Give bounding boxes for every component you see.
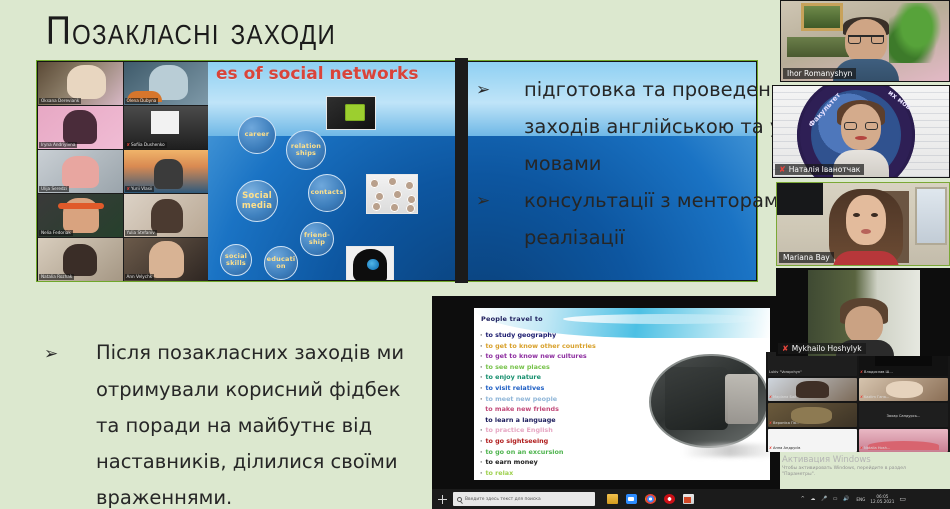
participant-name-label: Ihor Romanyshyn (783, 68, 856, 79)
powerpoint-icon[interactable] (683, 494, 694, 504)
bullet-item: наставників, ділилися своїми (40, 445, 440, 479)
glasses-icon (844, 122, 878, 130)
arrow-bullet-icon: ➢ (472, 183, 524, 218)
tv-decor (777, 183, 823, 215)
bullet-item: ➢ Після позакласних заходів ми (40, 336, 440, 371)
mic-muted-icon: ✘ (860, 370, 863, 374)
taskbar-clock[interactable]: 06:05 12.05.2021 (870, 494, 894, 505)
torso-shape (833, 251, 899, 266)
travel-list-item: to make new friends (480, 404, 766, 415)
face-shape (845, 306, 883, 344)
bullet-item: та поради на майбутнє від (40, 409, 440, 443)
glasses-icon (848, 35, 884, 44)
eye-right (871, 213, 878, 217)
clock-time: 06:05 (876, 494, 888, 499)
zoom-tile-name: Ulija Seredzi (39, 186, 69, 192)
zoom-tile: Ann Velychk (124, 238, 209, 281)
windows-taskbar[interactable]: Введите здесь текст для поиска ^ ☁ 🎤 ▭ 🔊… (432, 489, 950, 509)
bullet-item: отримували корисний фідбек (40, 373, 440, 407)
participant-thumb: ✘Natalia Hosh... (859, 429, 948, 453)
zoom-tile-name: Olena Dubyna (125, 98, 159, 104)
participant-name-label: ✘ Наталія Іванотчак (775, 164, 864, 175)
zoom-tile: Natalia Rozhak (38, 238, 123, 281)
mic-muted-icon: ✘ (127, 142, 131, 147)
mic-muted-icon: ✘ (127, 186, 131, 191)
arrow-bullet-icon (472, 220, 524, 255)
bullet-list-right: ➢ підготовка та проведення заходів англі… (472, 72, 802, 257)
participant-thumb: ✘Анна Андрусів (768, 429, 857, 453)
zoom-tile-name: Nelia Fedoriak (39, 230, 73, 236)
participant-name: Lukiv "Voropchyn" (769, 370, 856, 375)
social-network-people-image (366, 174, 418, 214)
arrow-bullet-icon (40, 409, 96, 443)
mouth-shape (861, 229, 871, 234)
zoom-tile-name: Natalia Rozhak (39, 274, 74, 280)
zoom-tile: Iryna Andriyivna (38, 106, 123, 149)
arrow-bullet-icon (472, 146, 524, 181)
bullet-text: враженнями. (96, 481, 232, 509)
video-panel-nataliia-ivanotchak[interactable]: Факультетих мов ✘ Наталія Іванотчак (772, 85, 950, 178)
participant-thumb: ✘Вероніка Па... (768, 403, 857, 427)
taskbar-search-input[interactable]: Введите здесь текст для поиска (453, 492, 595, 506)
page-title: Позакласні заходи (46, 8, 336, 54)
video-panel-mariana-bay[interactable]: Mariana Bay (776, 182, 950, 266)
participant-name: ✘Вероніка Па... (769, 421, 856, 426)
opera-icon[interactable] (664, 494, 675, 504)
bullet-text: наставників, ділилися своїми (96, 445, 398, 479)
screenshot-edge-strip (455, 58, 468, 283)
clock-date: 12.05.2021 (870, 499, 894, 504)
mic-muted-icon: ✘ (860, 395, 863, 399)
travel-list-item: ·to earn money (480, 457, 766, 468)
participant-thumb: ✘Kazlim Гана... (859, 378, 948, 402)
bullet-text: Після позакласних заходів ми (96, 336, 404, 371)
bullet-item: ➢ підготовка та проведення (472, 72, 802, 107)
watermark-subtitle: Чтобы активировать Windows, перейдите в … (782, 466, 932, 478)
bubble-social-media: Social media (236, 180, 278, 222)
zoom-tile: Olena Dubyna (124, 62, 209, 105)
travel-list-item: ·to go sightseeing (480, 436, 766, 447)
bullet-item: ➢ консультації з менторам (472, 183, 802, 218)
video-panel-ihor-romanyshyn[interactable]: Ihor Romanyshyn (780, 0, 950, 82)
start-button-icon[interactable] (438, 495, 447, 504)
bullet-text: реалізації (524, 220, 625, 255)
keyboard-image (326, 96, 376, 130)
travel-list-item: ·to see new places (480, 362, 766, 373)
lips-shape (855, 136, 867, 140)
arrow-bullet-icon (40, 481, 96, 509)
video-panel-mykhailo-hoshylyk[interactable]: ✘ Mykhailo Hoshylyk (776, 268, 950, 356)
system-tray[interactable]: ^ ☁ 🎤 ▭ 🔊 ENG 06:05 12.05.2021 ▭ (801, 489, 906, 509)
travel-list-item: ·to go on a tour around different cities… (480, 478, 766, 480)
travel-list-item: ·to meet new people (480, 394, 766, 405)
participant-name: ✘Владислав Ш... (860, 370, 947, 375)
bubble-social-skills: social skills (220, 244, 252, 276)
arrow-bullet-icon (472, 109, 524, 144)
mic-muted-icon: ✘ (860, 446, 863, 450)
bullet-item: заходів англійською та у (472, 109, 802, 144)
travel-reasons-list: ·to study geography ·to get to know othe… (480, 330, 766, 480)
participant-name-label: ✘ Mykhailo Hoshylyk (778, 343, 866, 354)
mic-muted-icon: ✘ (779, 164, 786, 175)
bubble-career: career (238, 116, 276, 154)
zoom-tile-name: Ann Velychk (125, 274, 155, 280)
participants-thumbnail-strip: Lukiv "Voropchyn" ✘Владислав Ш... ✘Маріа… (766, 352, 950, 452)
zoom-participant-grid: Oksana Dereviank Olena Dubyna Iryna Andr… (38, 62, 208, 281)
window-decor (915, 187, 947, 245)
watermark-title: Активация Windows (782, 455, 932, 466)
bullet-text: консультації з менторам (524, 183, 779, 218)
travel-slide-body: People travel to ·to study geography ·to… (474, 308, 770, 480)
travel-list-item: ·to practice English (480, 425, 766, 436)
participant-name: ✘Natalia Hosh... (860, 446, 947, 451)
head-silhouette-image (346, 246, 394, 280)
zoom-tile: Nelia Fedoriak (38, 194, 123, 237)
bullet-item: мовами (472, 146, 802, 181)
participant-name: ✘Анна Андрусів (769, 446, 856, 451)
tray-icons[interactable]: ^ ☁ 🎤 ▭ 🔊 (801, 496, 852, 502)
travel-list-item: to learn a language (480, 415, 766, 426)
bullet-text: підготовка та проведення (524, 72, 795, 107)
bubble-contacts: contacts (308, 174, 346, 212)
participant-name: Захар Сандурсь... (859, 403, 948, 419)
bullet-text: отримували корисний фідбек (96, 373, 401, 407)
arrow-bullet-icon (40, 373, 96, 407)
participants-grid: Lukiv "Voropchyn" ✘Владислав Ш... ✘Маріа… (768, 352, 948, 452)
participant-name-label: Mariana Bay (779, 252, 834, 263)
bubble-relationships: relation ships (286, 130, 326, 170)
bubble-education: educati on (264, 246, 298, 280)
travel-list-item: ·to get to know other countries (480, 341, 766, 352)
arrow-bullet-icon: ➢ (472, 72, 524, 107)
face-shape (846, 195, 886, 245)
travel-list-item: ·to relax (480, 468, 766, 479)
travel-list-item: ·to visit relatives (480, 383, 766, 394)
travel-list-item: ·to get to know new cultures (480, 351, 766, 362)
avatar (829, 189, 903, 266)
taskbar-pinned-apps (607, 494, 694, 504)
zoom-tile: Yulia Stefaniv (124, 194, 209, 237)
travel-list-item: ·to enjoy nature (480, 372, 766, 383)
zoom-tile: Ulija Seredzi (38, 150, 123, 193)
zoom-tile: ✘Yurii Vlasii (124, 150, 209, 193)
participant-name: ✘Kazlim Гана... (860, 395, 947, 400)
zoom-tile-name: Yulia Stefaniv (125, 230, 157, 236)
search-icon (457, 497, 462, 502)
arrow-bullet-icon (40, 445, 96, 479)
tray-language[interactable]: ENG (856, 497, 865, 502)
screenshot-travel-slide: People travel to ·to study geography ·to… (432, 296, 780, 509)
eye-left (853, 213, 860, 217)
participant-thumb: Захар Сандурсь... (859, 403, 948, 427)
mic-muted-icon: ✘ (769, 446, 772, 450)
zoom-tile-name: ✘Yurii Vlasii (125, 186, 155, 192)
zoom-app-icon[interactable] (626, 494, 637, 504)
bubble-friendship: friend- ship (300, 222, 334, 256)
search-placeholder: Введите здесь текст для поиска (465, 497, 541, 502)
zoom-tile: Oksana Dereviank (38, 62, 123, 105)
travel-slide-heading: People travel to (481, 315, 543, 323)
chrome-icon[interactable] (645, 494, 656, 504)
bullet-item: реалізації (472, 220, 802, 255)
notifications-icon[interactable]: ▭ (899, 495, 906, 503)
bullet-item: враженнями. (40, 481, 440, 509)
bullet-text: заходів англійською та у (524, 109, 781, 144)
windows-activation-watermark: Активация Windows Чтобы активировать Win… (782, 455, 932, 478)
mic-muted-icon: ✘ (769, 421, 772, 425)
file-explorer-icon[interactable] (607, 494, 618, 504)
bullet-text: мовами (524, 146, 601, 181)
zoom-tile-name: Oksana Dereviank (39, 98, 81, 104)
slide-canvas: Позакласні заходи Oksana Dereviank Olena… (0, 0, 950, 509)
mic-muted-icon: ✘ (769, 395, 772, 399)
participant-thumb: ✘Маріана Бай (768, 378, 857, 402)
zoom-tile-name: Iryna Andriyivna (39, 142, 77, 148)
bullet-list-left: ➢ Після позакласних заходів ми отримувал… (40, 336, 440, 509)
zoom-tile: ✘Sofiia Dushenko (124, 106, 209, 149)
travel-list-item: ·to go on an excursion (480, 447, 766, 458)
zoom-tile-name: ✘Sofiia Dushenko (125, 142, 167, 148)
participant-name: ✘Маріана Бай (769, 395, 856, 400)
bullet-text: та поради на майбутнє від (96, 409, 372, 443)
mic-muted-icon: ✘ (782, 343, 789, 354)
travel-list-item: ·to study geography (480, 330, 766, 341)
arrow-bullet-icon: ➢ (40, 336, 96, 371)
